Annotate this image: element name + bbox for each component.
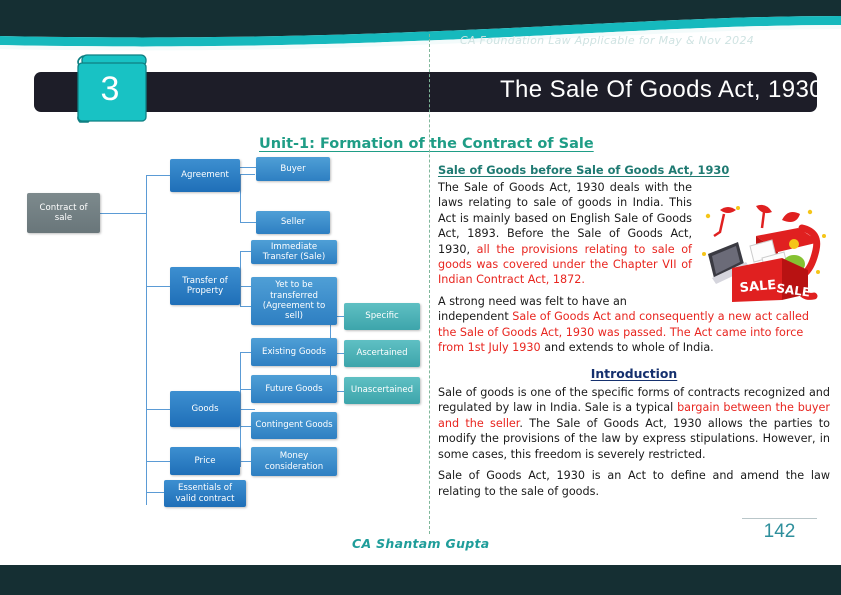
connector — [240, 222, 256, 223]
text-need-part2: and extends to whole of India. — [541, 341, 714, 354]
section-heading-introduction: Introduction — [438, 365, 830, 382]
connector — [240, 174, 255, 175]
connector — [100, 213, 146, 214]
flowchart: Contract of sale Agreement Transfer of P… — [0, 155, 430, 525]
page-number-rule — [742, 518, 817, 519]
text-act-history-red1: all the provisions relating to sale of g… — [438, 243, 692, 287]
content-column: Sale of Goods before Sale of Goods Act, … — [438, 163, 830, 505]
flow-node-buyer: Buyer — [256, 157, 330, 181]
flow-node-goods: Goods — [170, 391, 240, 427]
flow-node-seller: Seller — [256, 211, 330, 234]
connector — [240, 167, 256, 168]
bottom-bar-decoration — [0, 565, 841, 595]
flow-node-price: Price — [170, 447, 240, 475]
flow-node-root: Contract of sale — [27, 193, 100, 233]
sale-box-graphic: SALE SALE — [698, 202, 830, 306]
flow-node-specific: Specific — [344, 303, 420, 330]
paragraph-introduction: Sale of goods is one of the specific for… — [438, 385, 830, 462]
flow-node-existing-goods: Existing Goods — [251, 338, 337, 366]
unit-heading: Unit-1: Formation of the Contract of Sal… — [259, 136, 594, 152]
footer-author: CA Shantam Gupta — [352, 536, 490, 551]
flow-node-ascertained: Ascertained — [344, 340, 420, 367]
flow-node-agreement: Agreement — [170, 159, 240, 192]
page-number: 142 — [742, 521, 817, 543]
svg-text:SALE: SALE — [739, 278, 777, 296]
chapter-number: 3 — [74, 58, 146, 120]
connector — [146, 286, 170, 287]
connector — [146, 409, 170, 410]
connector — [146, 175, 170, 176]
connector — [240, 251, 241, 307]
connector — [240, 352, 241, 467]
header-watermark: CA Foundation Law Applicable for May & N… — [460, 34, 754, 47]
connector — [146, 461, 170, 462]
flow-node-money-consideration: Money consideration — [251, 447, 337, 476]
flow-node-yet-to-be-transferred: Yet to be transferred (Agreement to sell… — [251, 277, 337, 325]
section-heading-sale-before-act: Sale of Goods before Sale of Goods Act, … — [438, 163, 830, 179]
paragraph-closing: Sale of Goods Act, 1930 is an Act to def… — [438, 468, 830, 499]
flow-node-contingent-goods: Contingent Goods — [251, 412, 337, 439]
connector — [240, 174, 241, 223]
document-page: CA Foundation Law Applicable for May & N… — [0, 0, 841, 595]
connector — [146, 175, 147, 505]
connector — [240, 409, 255, 410]
flow-node-transfer-of-property: Transfer of Property — [170, 267, 240, 305]
flow-node-essentials-of-valid-contract: Essentials of valid contract — [164, 480, 246, 507]
flow-node-immediate-transfer: Immediate Transfer (Sale) — [251, 240, 337, 264]
flow-node-future-goods: Future Goods — [251, 375, 337, 403]
flow-node-unascertained: Unascertained — [344, 377, 420, 404]
top-wave-decoration — [0, 0, 841, 60]
page-title: The Sale Of Goods Act, 1930 — [500, 76, 823, 104]
